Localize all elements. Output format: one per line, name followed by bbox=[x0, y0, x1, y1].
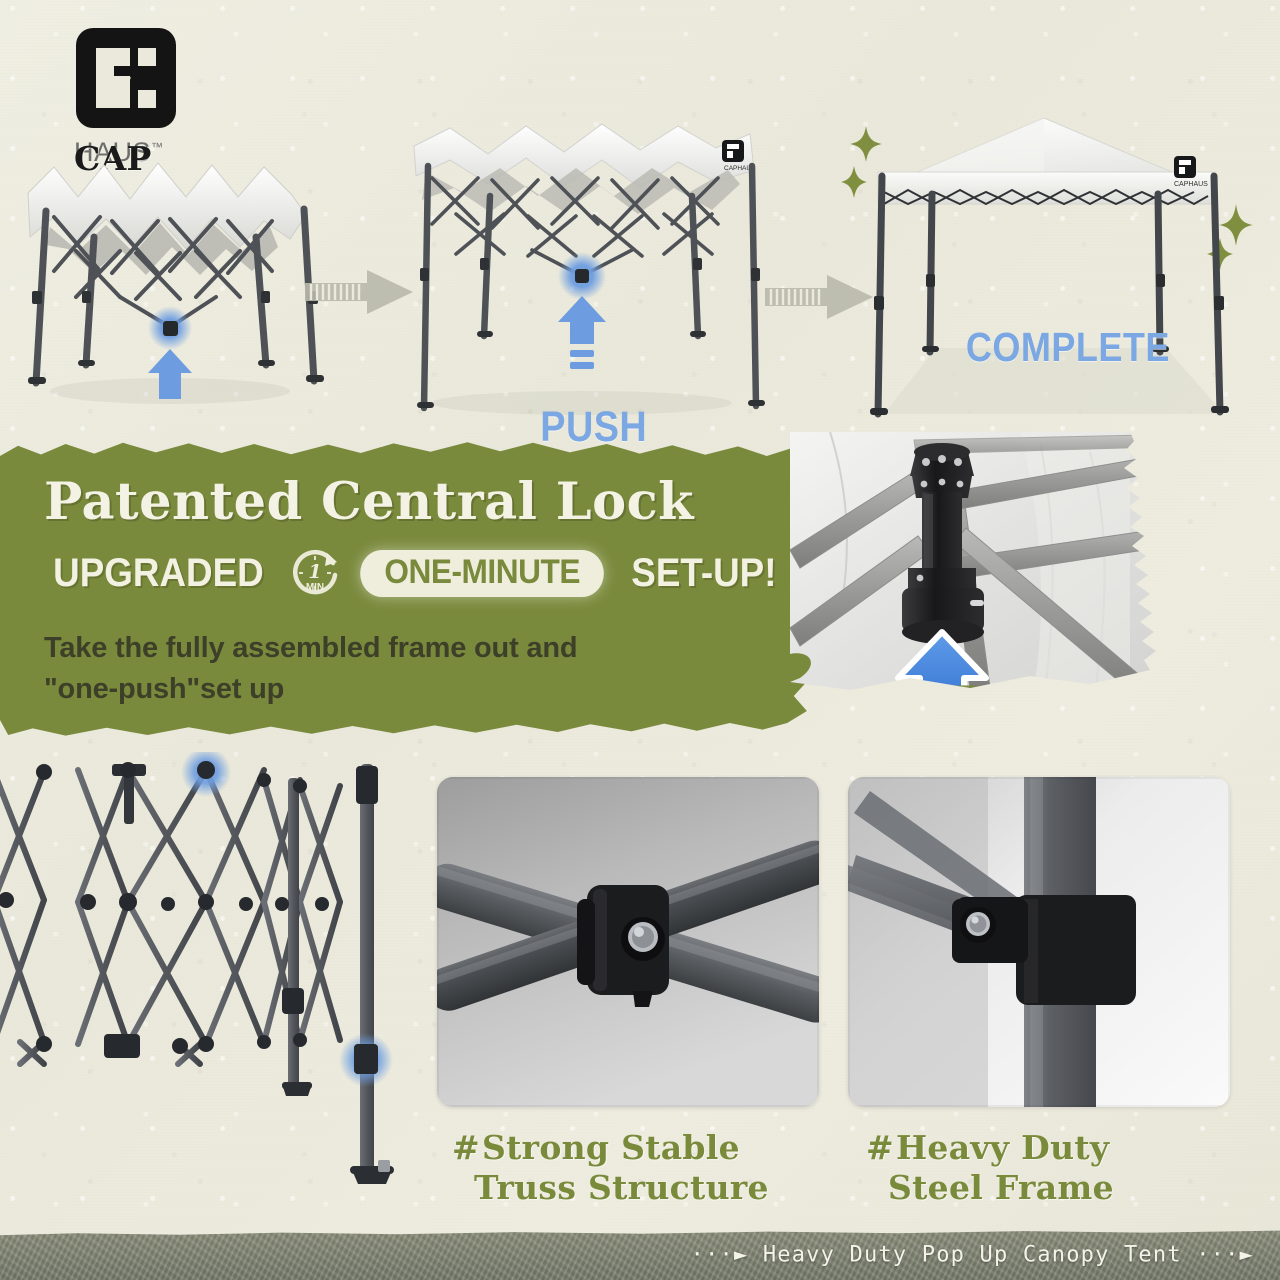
step-complete: CAPHAUS bbox=[848, 96, 1248, 426]
steel-leg-bracket-photo bbox=[848, 777, 1230, 1107]
feature-caption-frame: #Heavy Duty Steel Frame bbox=[866, 1128, 1114, 1209]
one-minute-badge: ONE-MINUTE bbox=[360, 550, 604, 597]
push-label: PUSH bbox=[540, 403, 647, 452]
svg-text:1: 1 bbox=[308, 561, 321, 583]
setup-label: SET-UP! bbox=[632, 551, 777, 596]
footer-bar: ···► Heavy Duty Pop Up Canopy Tent ···► bbox=[0, 1228, 1280, 1280]
caption-line1: Heavy Duty bbox=[896, 1128, 1109, 1167]
complete-label: COMPLETE bbox=[966, 324, 1170, 371]
hash-symbol: # bbox=[866, 1128, 894, 1167]
central-lock-banner: Patented Central Lock UPGRADED 1 MIN ONE… bbox=[0, 438, 820, 738]
banner-description-line1: Take the fully assembled frame out and bbox=[44, 632, 577, 664]
setup-steps-row: CAPHAUS bbox=[0, 96, 1280, 426]
step-collapsed bbox=[20, 151, 320, 411]
truss-cross-joint-photo bbox=[437, 777, 819, 1107]
svg-text:CAPHAUS: CAPHAUS bbox=[1174, 181, 1208, 188]
hash-symbol: # bbox=[452, 1128, 480, 1167]
caption-line1: Strong Stable bbox=[482, 1128, 740, 1167]
svg-text:MIN: MIN bbox=[306, 582, 324, 593]
expanded-truss-frame-illustration bbox=[0, 752, 430, 1222]
feature-caption-truss: #Strong Stable Truss Structure bbox=[452, 1128, 769, 1209]
upgraded-label: UPGRADED bbox=[53, 551, 264, 596]
footer-text: ···► Heavy Duty Pop Up Canopy Tent ···► bbox=[691, 1243, 1254, 1268]
banner-description-line2: "one-push"set up bbox=[44, 673, 284, 705]
caption-line2: Steel Frame bbox=[866, 1168, 1114, 1208]
caption-line2: Truss Structure bbox=[452, 1168, 769, 1208]
circular-arrow-clock-icon: 1 MIN bbox=[287, 545, 343, 601]
banner-description: Take the fully assembled frame out and"o… bbox=[44, 628, 644, 710]
step-push: CAPHAUS bbox=[392, 118, 772, 418]
infographic-page: CAPHAUS™ bbox=[0, 0, 1280, 1280]
central-lock-photo bbox=[790, 432, 1200, 722]
blue-up-arrow-icon bbox=[558, 296, 606, 369]
banner-subtitle-row: UPGRADED 1 MIN ONE-MINUTE SET-UP! bbox=[44, 545, 783, 601]
banner-title: Patented Central Lock bbox=[44, 472, 694, 532]
